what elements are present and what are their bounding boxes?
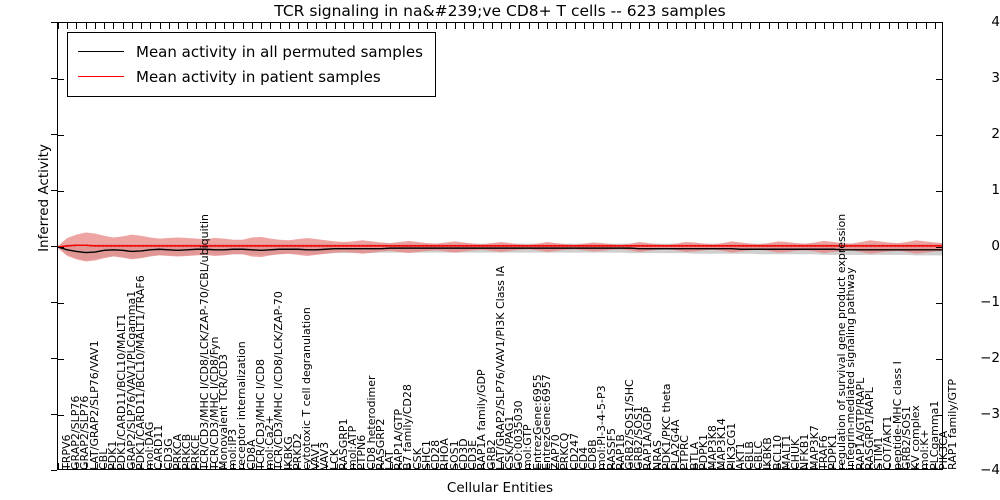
y-tick-mark-right <box>936 79 942 80</box>
x-tick-mark-top <box>769 23 770 29</box>
x-tick-mark-top <box>815 23 816 29</box>
x-tick-mark-top <box>686 23 687 29</box>
legend-label-permuted: Mean activity in all permuted samples <box>136 43 423 61</box>
x-tick-mark-top <box>95 23 96 29</box>
x-tick-mark-top <box>178 23 179 29</box>
x-tick-mark-top <box>113 23 114 29</box>
x-tick-mark-top <box>252 23 253 29</box>
x-tick-mark-top <box>169 23 170 29</box>
x-tick-mark-top <box>926 23 927 29</box>
x-tick-mark-top <box>187 23 188 29</box>
x-tick-mark-top <box>206 23 207 29</box>
x-tick-mark-top <box>713 23 714 29</box>
x-tick-mark-top <box>529 23 530 29</box>
x-tick-mark-top <box>492 23 493 29</box>
x-tick-mark-top <box>446 23 447 29</box>
x-tick-mark-top <box>76 23 77 29</box>
y-tick-mark-inner <box>58 303 64 304</box>
x-tick-mark-top <box>196 23 197 29</box>
x-tick-mark-top <box>916 23 917 29</box>
x-tick-mark-top <box>889 23 890 29</box>
x-tick-mark-top <box>353 23 354 29</box>
x-tick-mark-top <box>621 23 622 29</box>
x-tick-mark-top <box>759 23 760 29</box>
x-tick-mark-top <box>852 23 853 29</box>
x-tick-mark-top <box>243 23 244 29</box>
x-tick-mark-top <box>464 23 465 29</box>
patient-spread-band <box>58 232 943 261</box>
y-tick-label: −3 <box>954 406 1000 422</box>
x-tick-mark-top <box>649 23 650 29</box>
y-tick-label: 1 <box>954 182 1000 198</box>
x-tick-mark-top <box>160 23 161 29</box>
x-tick-mark-top <box>86 23 87 29</box>
x-tick-mark-top <box>363 23 364 29</box>
x-tick-mark-top <box>519 23 520 29</box>
figure: TCR signaling in na&#239;ve CD8+ T cells… <box>0 0 1000 500</box>
x-tick-mark-top <box>381 23 382 29</box>
x-tick-mark-top <box>141 23 142 29</box>
y-tick-mark-inner <box>58 79 64 80</box>
legend-swatch-permuted <box>78 51 124 52</box>
x-tick-mark-top <box>123 23 124 29</box>
y-tick-mark-inner <box>58 247 64 248</box>
y-tick-mark-inner <box>58 415 64 416</box>
x-tick-mark-top <box>566 23 567 29</box>
legend-swatch-patient <box>78 76 124 77</box>
patient-band-area <box>58 232 943 261</box>
y-tick-mark-right <box>936 135 942 136</box>
x-tick-mark-top <box>215 23 216 29</box>
x-tick-mark-top <box>372 23 373 29</box>
x-tick-mark-top <box>104 23 105 29</box>
x-tick-mark-top <box>842 23 843 29</box>
x-tick-mark-top <box>427 23 428 29</box>
y-tick-mark-right <box>936 191 942 192</box>
x-tick-mark-top <box>298 23 299 29</box>
x-tick-mark-top <box>907 23 908 29</box>
x-tick-mark-top <box>510 23 511 29</box>
y-tick-mark-inner <box>58 135 64 136</box>
x-tick-mark-top <box>150 23 151 29</box>
y-tick-label: −1 <box>954 294 1000 310</box>
x-tick-mark-top <box>399 23 400 29</box>
legend-item-permuted: Mean activity in all permuted samples <box>78 39 423 64</box>
x-tick-mark-top <box>233 23 234 29</box>
x-tick-mark-top <box>879 23 880 29</box>
legend: Mean activity in all permuted samples Me… <box>67 32 436 97</box>
y-tick-mark-right <box>936 247 942 248</box>
x-tick-mark-top <box>58 23 59 29</box>
x-tick-mark-top <box>556 23 557 29</box>
x-tick-mark-top <box>824 23 825 29</box>
y-tick-label: 2 <box>954 126 1000 142</box>
x-tick-mark-top <box>593 23 594 29</box>
x-tick-mark-top <box>335 23 336 29</box>
y-tick-mark-inner <box>58 191 64 192</box>
x-tick-mark-top <box>326 23 327 29</box>
x-tick-mark-top <box>280 23 281 29</box>
x-tick-mark-top <box>612 23 613 29</box>
x-tick-mark-top <box>676 23 677 29</box>
x-tick-mark-top <box>584 23 585 29</box>
y-tick-mark <box>51 470 57 471</box>
x-tick-mark-top <box>723 23 724 29</box>
x-axis-label: Cellular Entities <box>57 480 943 496</box>
x-tick-mark-top <box>658 23 659 29</box>
x-tick-mark-top <box>639 23 640 29</box>
x-tick-mark-top <box>307 23 308 29</box>
y-tick-mark-right <box>936 303 942 304</box>
x-tick-mark <box>58 463 59 469</box>
x-tick-mark-top <box>270 23 271 29</box>
y-tick-label: −2 <box>954 350 1000 366</box>
x-tick-mark-top <box>316 23 317 29</box>
x-tick-mark-top <box>833 23 834 29</box>
x-tick-mark-top <box>483 23 484 29</box>
x-tick-mark-top <box>67 23 68 29</box>
x-tick-mark-top <box>732 23 733 29</box>
x-tick-mark-top <box>630 23 631 29</box>
y-tick-mark-inner <box>58 359 64 360</box>
x-tick-mark-top <box>538 23 539 29</box>
x-tick-mark-top <box>575 23 576 29</box>
x-tick-mark-top <box>436 23 437 29</box>
y-tick-label: 3 <box>954 70 1000 86</box>
y-tick-label: −4 <box>954 462 1000 478</box>
chart-title: TCR signaling in na&#239;ve CD8+ T cells… <box>57 2 943 20</box>
x-tick-mark-top <box>861 23 862 29</box>
x-tick-mark-top <box>704 23 705 29</box>
x-tick-mark-top <box>695 23 696 29</box>
y-axis-label: Inferred Activity <box>36 98 52 298</box>
x-tick-mark-top <box>390 23 391 29</box>
legend-item-patient: Mean activity in patient samples <box>78 64 423 89</box>
x-tick-mark-top <box>870 23 871 29</box>
x-tick-mark-top <box>132 23 133 29</box>
y-tick-label: 4 <box>954 14 1000 30</box>
x-tick-mark-top <box>224 23 225 29</box>
y-tick-label: 0 <box>954 238 1000 254</box>
x-tick-mark-top <box>455 23 456 29</box>
x-tick-mark-top <box>741 23 742 29</box>
x-tick-mark-top <box>289 23 290 29</box>
x-tick-mark-top <box>547 23 548 29</box>
x-tick-mark-top <box>796 23 797 29</box>
x-tick-mark-top <box>806 23 807 29</box>
x-tick-mark-top <box>261 23 262 29</box>
x-tick-mark-top <box>898 23 899 29</box>
x-tick-mark-top <box>787 23 788 29</box>
x-tick-mark-top <box>344 23 345 29</box>
x-tick-mark-top <box>778 23 779 29</box>
x-tick-mark-top <box>473 23 474 29</box>
x-tick-mark-top <box>603 23 604 29</box>
x-tick-mark-top <box>409 23 410 29</box>
y-tick-mark-right <box>936 359 942 360</box>
x-tick-mark-top <box>501 23 502 29</box>
x-tick-label: RAP1 family/GTP <box>947 379 958 470</box>
x-tick-mark-top <box>750 23 751 29</box>
x-tick-mark-top <box>935 23 936 29</box>
x-tick-mark-top <box>418 23 419 29</box>
legend-label-patient: Mean activity in patient samples <box>136 68 381 86</box>
x-tick-mark-top <box>667 23 668 29</box>
